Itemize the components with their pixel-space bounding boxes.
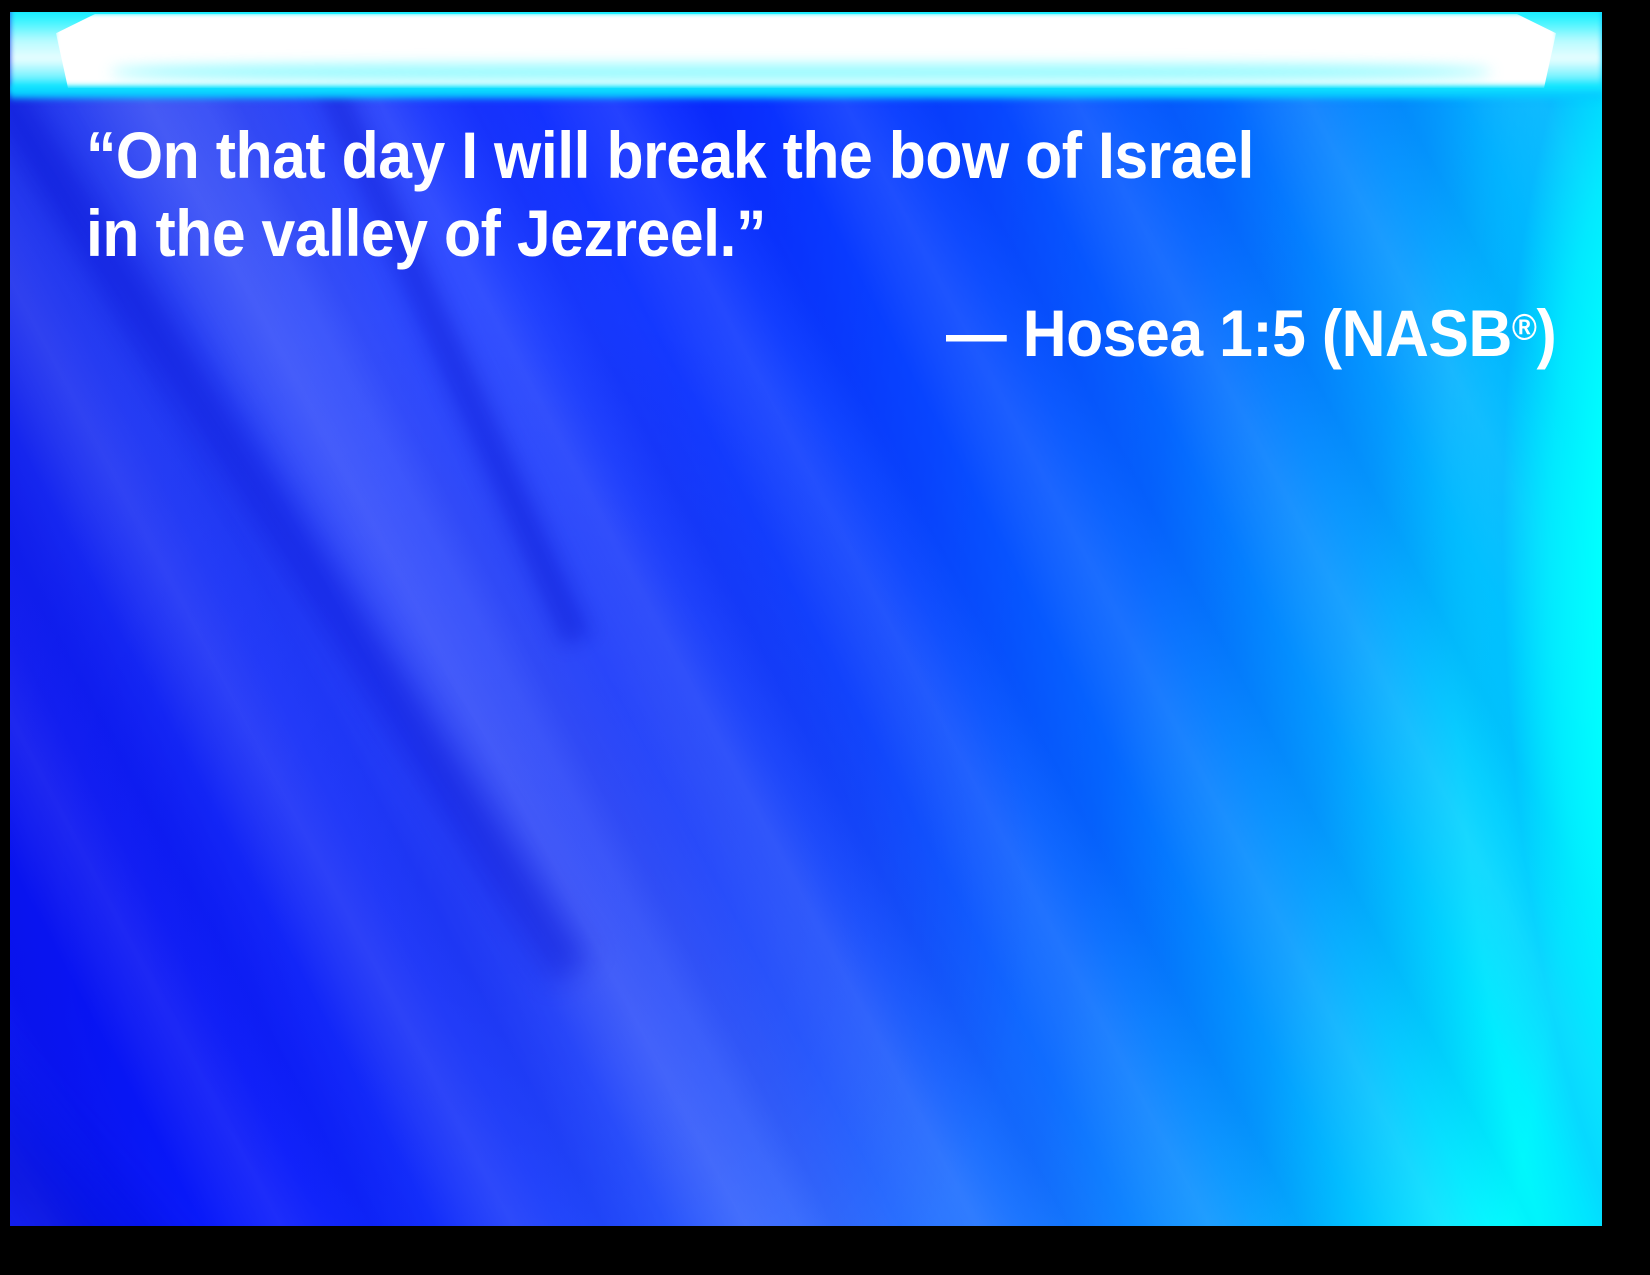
attribution-prefix: — Hosea 1:5 (NASB (946, 296, 1512, 370)
verse-attribution: — Hosea 1:5 (NASB®) (86, 294, 1556, 372)
top-glow-inner-streak (110, 62, 1492, 82)
slide-frame: “On that day I will break the bow of Isr… (0, 0, 1650, 1275)
verse-line-2: in the valley of Jezreel.” (86, 194, 1438, 272)
verse-text-block: “On that day I will break the bow of Isr… (86, 116, 1556, 272)
top-glow-bottom-edge (10, 86, 1602, 102)
slide-canvas: “On that day I will break the bow of Isr… (10, 12, 1602, 1226)
registered-trademark-icon: ® (1512, 306, 1537, 347)
top-glow-band (10, 12, 1602, 122)
attribution-text: — Hosea 1:5 (NASB®) (946, 294, 1556, 372)
verse-line-1: “On that day I will break the bow of Isr… (86, 116, 1438, 194)
attribution-suffix: ) (1536, 296, 1556, 370)
